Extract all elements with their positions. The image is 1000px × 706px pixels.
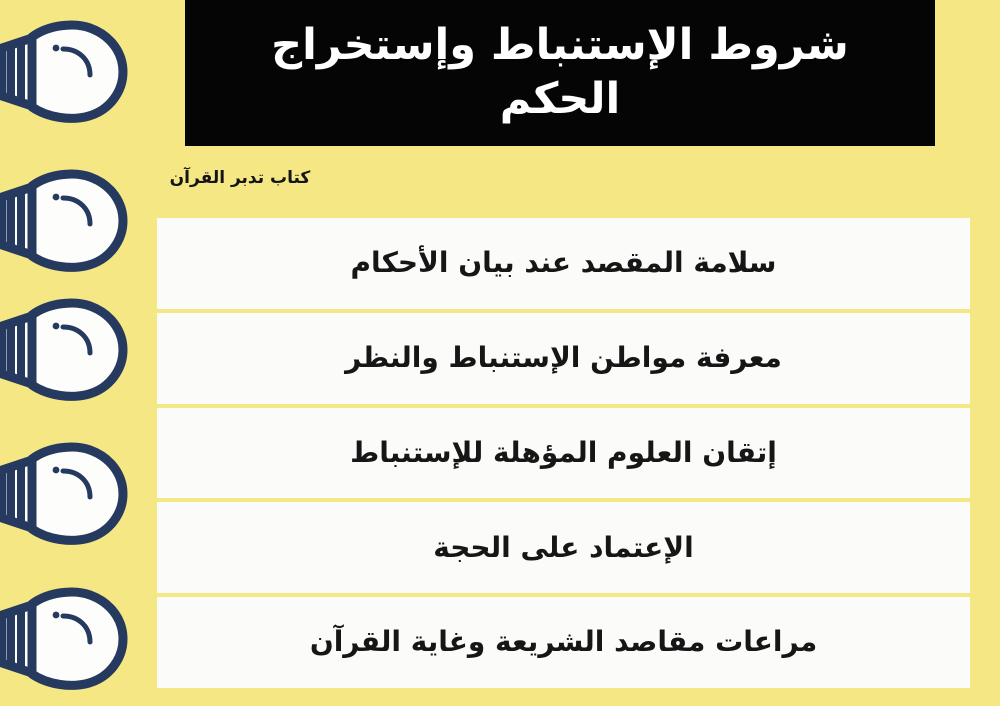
title-banner: شروط الإستنباط وإستخراج الحكم <box>185 0 935 146</box>
lightbulb-icon <box>0 296 136 404</box>
condition-text: مراعات مقاصد الشريعة وغاية القرآن <box>284 624 843 660</box>
list-item: إتقان العلوم المؤهلة للإستنباط <box>157 408 970 499</box>
condition-text: الإعتماد على الحجة <box>407 530 720 566</box>
list-item: الإعتماد على الحجة <box>157 502 970 593</box>
infographic-poster: شروط الإستنباط وإستخراج الحكم كتاب تدبر … <box>0 0 1000 706</box>
page-title: شروط الإستنباط وإستخراج الحكم <box>185 19 935 127</box>
subtitle-source: كتاب تدبر القرآن <box>140 168 340 188</box>
list-item: معرفة مواطن الإستنباط والنظر <box>157 313 970 404</box>
lightbulb-decoration-rail <box>0 0 150 706</box>
lightbulb-icon <box>0 585 136 693</box>
list-item: سلامة المقصد عند بيان الأحكام <box>157 218 970 309</box>
lightbulb-icon <box>0 18 136 126</box>
conditions-list: سلامة المقصد عند بيان الأحكام معرفة مواط… <box>157 218 970 688</box>
lightbulb-icon <box>0 167 136 275</box>
list-item: مراعات مقاصد الشريعة وغاية القرآن <box>157 597 970 688</box>
condition-text: معرفة مواطن الإستنباط والنظر <box>319 340 808 376</box>
condition-text: إتقان العلوم المؤهلة للإستنباط <box>324 435 803 471</box>
condition-text: سلامة المقصد عند بيان الأحكام <box>325 245 803 281</box>
lightbulb-icon <box>0 440 136 548</box>
